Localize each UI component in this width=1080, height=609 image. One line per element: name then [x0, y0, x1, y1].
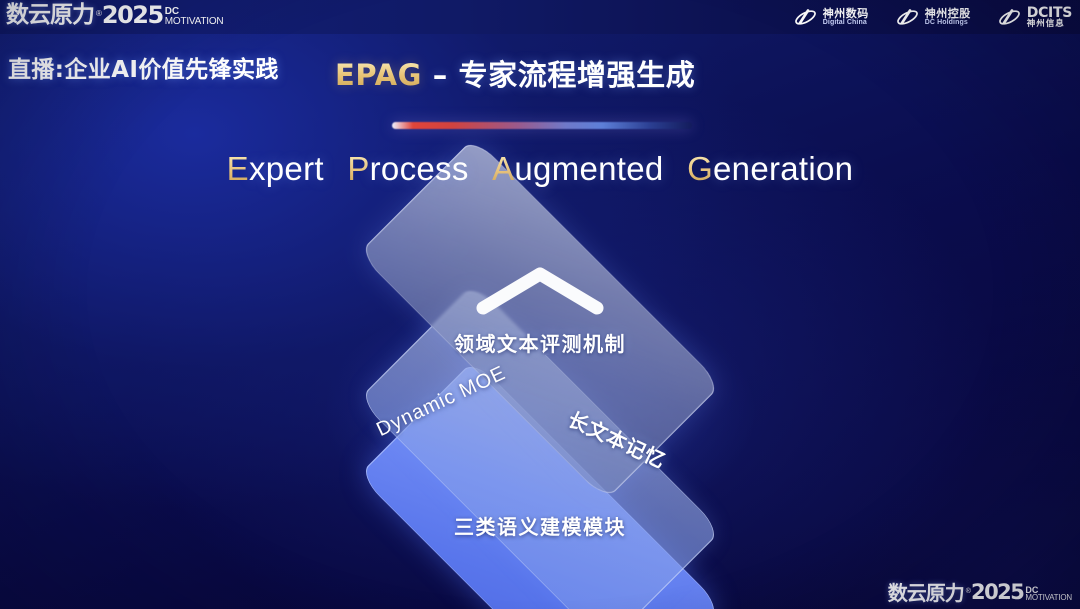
partner-logo-en: Digital China: [823, 19, 869, 26]
chevron-up-icon: [473, 264, 607, 321]
subtitle-cap: A: [492, 150, 514, 187]
gradient-divider: [392, 122, 692, 129]
layered-architecture-diagram: 领域文本评测机制 Dynamic MOE 长文本记忆 三类语义建模模块: [0, 224, 1080, 584]
partner-logo-cn: 神州信息: [1027, 20, 1072, 29]
swirl-icon: [997, 6, 1022, 29]
subtitle-cap: E: [227, 150, 249, 187]
brand-logo: 数云原力 ® 2025 DC MOTIVATION: [6, 3, 223, 27]
top-bar: 数云原力 ® 2025 DC MOTIVATION 神州数码 Digital C…: [0, 0, 1080, 34]
subtitle-word-generation: Generation: [687, 150, 853, 188]
subtitle-word-expert: Expert: [227, 150, 324, 188]
subtitle-rest: eneration: [713, 150, 853, 187]
subtitle-rest: rocess: [370, 150, 469, 187]
subtitle-cap: P: [347, 150, 369, 187]
subtitle-word-augmented: Augmented: [492, 150, 664, 188]
slide-canvas: 数云原力 ® 2025 DC MOTIVATION 神州数码 Digital C…: [0, 0, 1080, 609]
watermark-year: 2025: [971, 582, 1023, 603]
partner-logo-cn: 神州数码: [823, 8, 869, 19]
brand-logo-cn: 数云原力: [6, 4, 94, 27]
brand-logo-motivation: MOTIVATION: [165, 17, 224, 27]
partner-logo-cn: 神州控股: [925, 8, 971, 19]
live-stream-title: 直播:企业AI价值先锋实践: [8, 50, 279, 84]
partner-logo-en: DCITS: [1027, 6, 1072, 20]
partner-logo-text: DCITS 神州信息: [1027, 6, 1072, 29]
watermark-motivation: MOTIVATION: [1025, 594, 1072, 602]
page-title-acronym: EPAG: [335, 58, 422, 92]
partner-logo-digital-china: 神州数码 Digital China: [793, 6, 869, 29]
page-subtitle: Expert Process Augmented Generation: [0, 150, 1080, 188]
watermark-dc-motivation: DC MOTIVATION: [1025, 586, 1072, 602]
page-title-chinese: – 专家流程增强生成: [433, 58, 696, 92]
partner-logo-text: 神州控股 DC Holdings: [925, 8, 971, 26]
watermark-registered-mark: ®: [966, 588, 971, 595]
subtitle-rest: xpert: [249, 150, 324, 187]
subtitle-cap: G: [687, 150, 713, 187]
subtitle-rest: ugmented: [514, 150, 663, 187]
partner-logo-en: DC Holdings: [925, 19, 971, 26]
partner-logo-dcits: DCITS 神州信息: [997, 6, 1072, 29]
partner-logo-dc-holdings: 神州控股 DC Holdings: [895, 6, 971, 29]
brand-logo-year: 2025: [102, 3, 163, 27]
subtitle-word-process: Process: [347, 150, 468, 188]
bottom-watermark-logo: 数云原力 ® 2025 DC MOTIVATION: [888, 582, 1072, 603]
page-title: EPAG – 专家流程增强生成: [335, 52, 695, 94]
swirl-icon: [895, 6, 920, 29]
watermark-cn: 数云原力: [888, 583, 964, 603]
partner-logo-text: 神州数码 Digital China: [823, 8, 869, 26]
swirl-icon: [793, 6, 818, 29]
partner-logo-group: 神州数码 Digital China 神州控股 DC Holdings: [793, 3, 1072, 31]
brand-logo-dc-motivation: DC MOTIVATION: [165, 7, 224, 26]
brand-logo-registered-mark: ®: [96, 10, 102, 18]
